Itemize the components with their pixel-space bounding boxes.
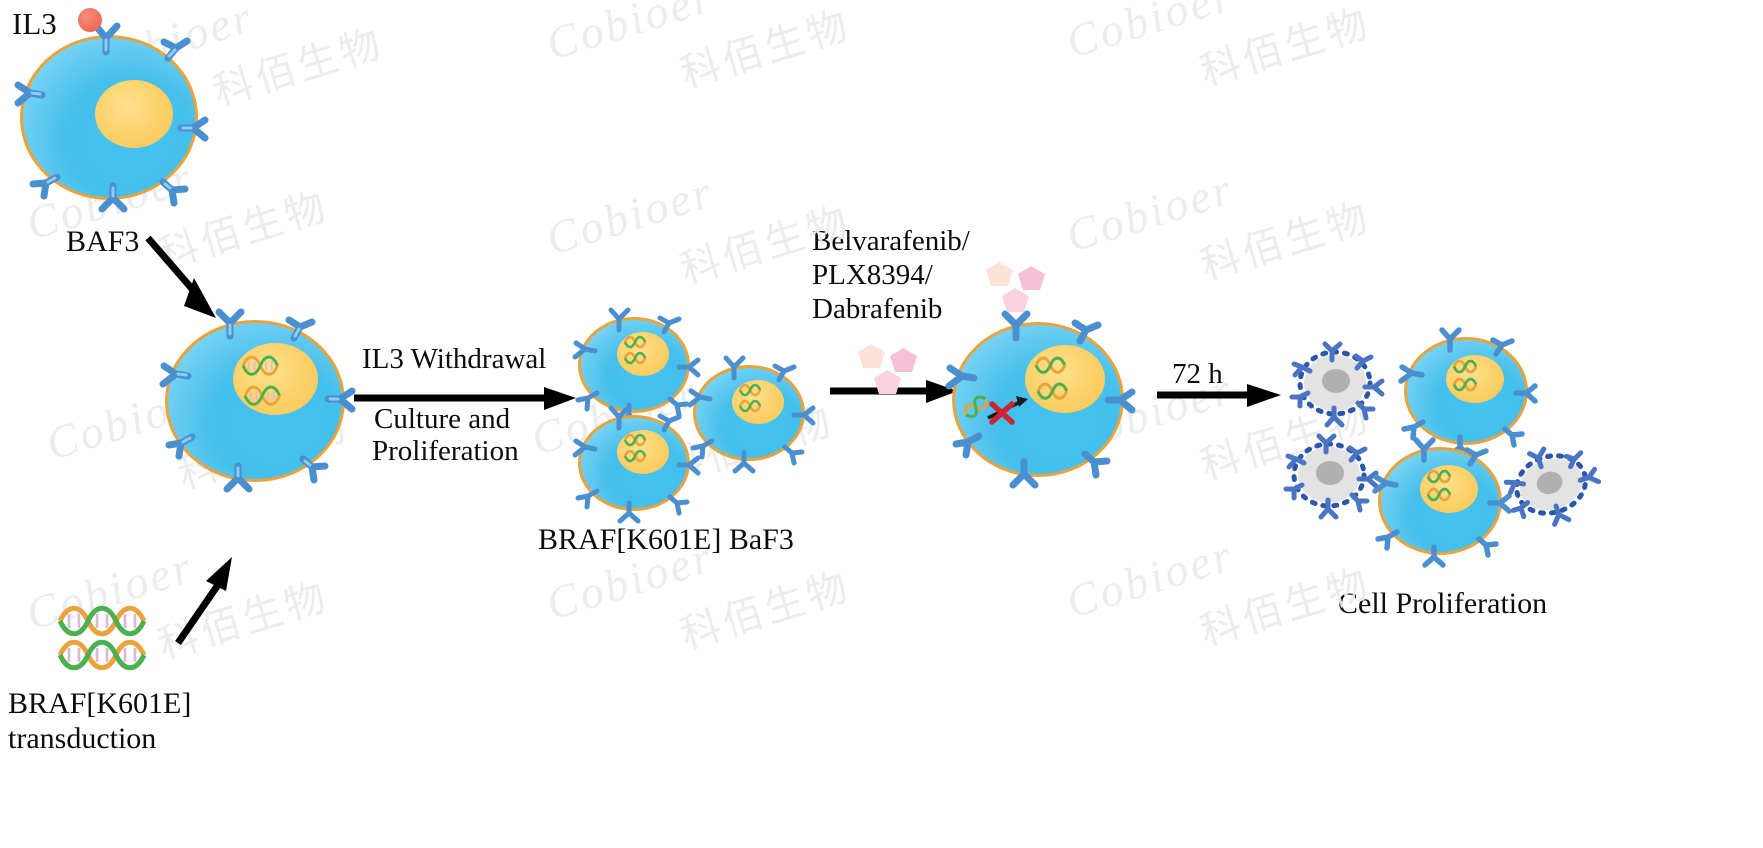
- receptor-icon: [794, 408, 813, 423]
- receptor-icon: [578, 491, 597, 507]
- arrow-dna-to-transduced: [150, 545, 260, 655]
- watermark: Cobioer: [540, 0, 720, 71]
- dna-helix-icon: [625, 451, 645, 461]
- dead-cell: [1282, 335, 1392, 435]
- dna-helix-icon: [1428, 489, 1450, 500]
- watermark: Cobioer: [1060, 0, 1240, 69]
- receptor-icon: [219, 312, 241, 336]
- dna-helix-icon: [1036, 358, 1065, 372]
- receptor-icon: [1506, 477, 1525, 492]
- dna-helix-icon: [625, 435, 645, 445]
- il3-ligand-icon: [78, 8, 108, 38]
- receptor-icon: [1401, 367, 1422, 381]
- watermark: Cobioer: [540, 165, 720, 266]
- receptor-icon: [660, 318, 679, 332]
- watermark: Cobioer: [1060, 162, 1240, 263]
- receptor-group: [0, 0, 260, 230]
- arrow-72h: [1155, 382, 1285, 412]
- dna-helix-icon: [1038, 384, 1067, 398]
- receptor-icon: [575, 441, 595, 455]
- dna-helix-icon: [625, 337, 645, 347]
- cell-proliferation-label: Cell Proliferation: [1338, 584, 1547, 624]
- receptor-icon: [735, 453, 753, 471]
- dna-helix-icon: [60, 608, 144, 634]
- dna-helix-icon: [60, 642, 144, 668]
- drug-molecule-icon: [983, 258, 1049, 320]
- receptor-icon: [1358, 403, 1373, 418]
- receptor-icon: [611, 408, 628, 428]
- receptor-icon: [303, 459, 325, 480]
- receptor-icon: [1479, 539, 1496, 555]
- receptor-icon: [1493, 340, 1512, 354]
- receptor-icon: [33, 177, 57, 196]
- receptor-icon: [164, 41, 187, 58]
- receptor-icon: [1013, 462, 1035, 485]
- receptor-icon: [611, 310, 628, 330]
- braf-baf3-cluster-group: [555, 295, 830, 525]
- receptor-icon: [1416, 440, 1433, 460]
- receptor-icon: [1075, 323, 1098, 341]
- receptor-icon: [1378, 532, 1397, 548]
- watermark: 科佰生物: [1192, 0, 1377, 97]
- transduced-cell-group: [140, 295, 370, 510]
- receptor-icon: [956, 436, 979, 455]
- receptor-icon: [1425, 547, 1443, 565]
- drug-label-line3: Dabrafenib: [812, 290, 942, 328]
- receptor-icon: [1108, 392, 1132, 410]
- watermark: 科佰生物: [672, 554, 857, 661]
- receptor-icon: [949, 368, 974, 386]
- receptor-icon: [1578, 469, 1598, 487]
- receptor-icon: [163, 366, 188, 384]
- withdrawal-label: IL3 Withdrawal: [362, 340, 546, 378]
- receptor-icon: [18, 85, 42, 103]
- culture-label-line2: Proliferation: [372, 432, 519, 470]
- receptor-icon: [1321, 500, 1336, 517]
- receptor-icon: [169, 437, 192, 456]
- dna-helix-icon: [1428, 471, 1450, 482]
- receptor-icon: [775, 366, 794, 380]
- receptor-icon: [1375, 477, 1396, 491]
- receptor-icon: [1442, 330, 1459, 350]
- receptor-icon: [575, 343, 595, 357]
- signal-dna-icon: [962, 394, 989, 420]
- drug-label-line1: Belvarafenib/: [812, 222, 970, 260]
- cluster-cell: [680, 353, 820, 473]
- receptor-icon: [693, 441, 712, 457]
- dna-helix-icon: [740, 401, 760, 411]
- watermark: 科佰生物: [672, 0, 857, 99]
- receptor-icon: [102, 186, 124, 209]
- dna-helix-icon: [1454, 379, 1476, 390]
- dna-helix-icon: [740, 385, 760, 395]
- receptor-icon: [785, 447, 802, 463]
- receptor-icon: [690, 391, 710, 405]
- receptor-icon: [1467, 450, 1486, 464]
- dna-helix-icon: [1454, 361, 1476, 372]
- arrow-il3-withdrawal: [352, 385, 582, 415]
- receptor-icon: [1327, 408, 1342, 425]
- receptor-icon: [726, 358, 743, 378]
- proliferation-outcome-group: [1270, 315, 1570, 545]
- transduction-label-line1: BRAF[K601E]: [8, 684, 191, 724]
- transduction-label-line2: transduction: [8, 719, 156, 759]
- receptor-icon: [227, 466, 249, 489]
- receptor-icon: [660, 416, 679, 430]
- receptor-group: [140, 295, 370, 510]
- drug-treated-cell-group: [930, 300, 1150, 510]
- watermark: Cobioer: [1060, 528, 1240, 629]
- dna-helix-icon: [625, 353, 645, 363]
- receptor-icon: [670, 497, 687, 513]
- watermark: 科佰生物: [1192, 185, 1377, 292]
- baf3-parental-cell-group: [0, 0, 260, 230]
- braf-baf3-label: BRAF[K601E] BaF3: [538, 520, 794, 560]
- receptor-icon: [289, 320, 312, 338]
- receptor-icon: [181, 120, 205, 138]
- receptor-icon: [1530, 449, 1549, 469]
- drug-molecule-icon: [855, 340, 921, 402]
- receptor-icon: [163, 182, 185, 203]
- receptor-icon: [328, 391, 352, 409]
- receptor-icon: [1516, 386, 1535, 401]
- receptor-icon: [620, 503, 638, 521]
- receptor-icon: [1085, 454, 1107, 475]
- figure-canvas: Cobioer 科佰生物 Cobioer 科佰生物 Cobioer 科佰生物 C…: [0, 0, 1763, 848]
- drug-label-line2: PLX8394/: [812, 256, 933, 294]
